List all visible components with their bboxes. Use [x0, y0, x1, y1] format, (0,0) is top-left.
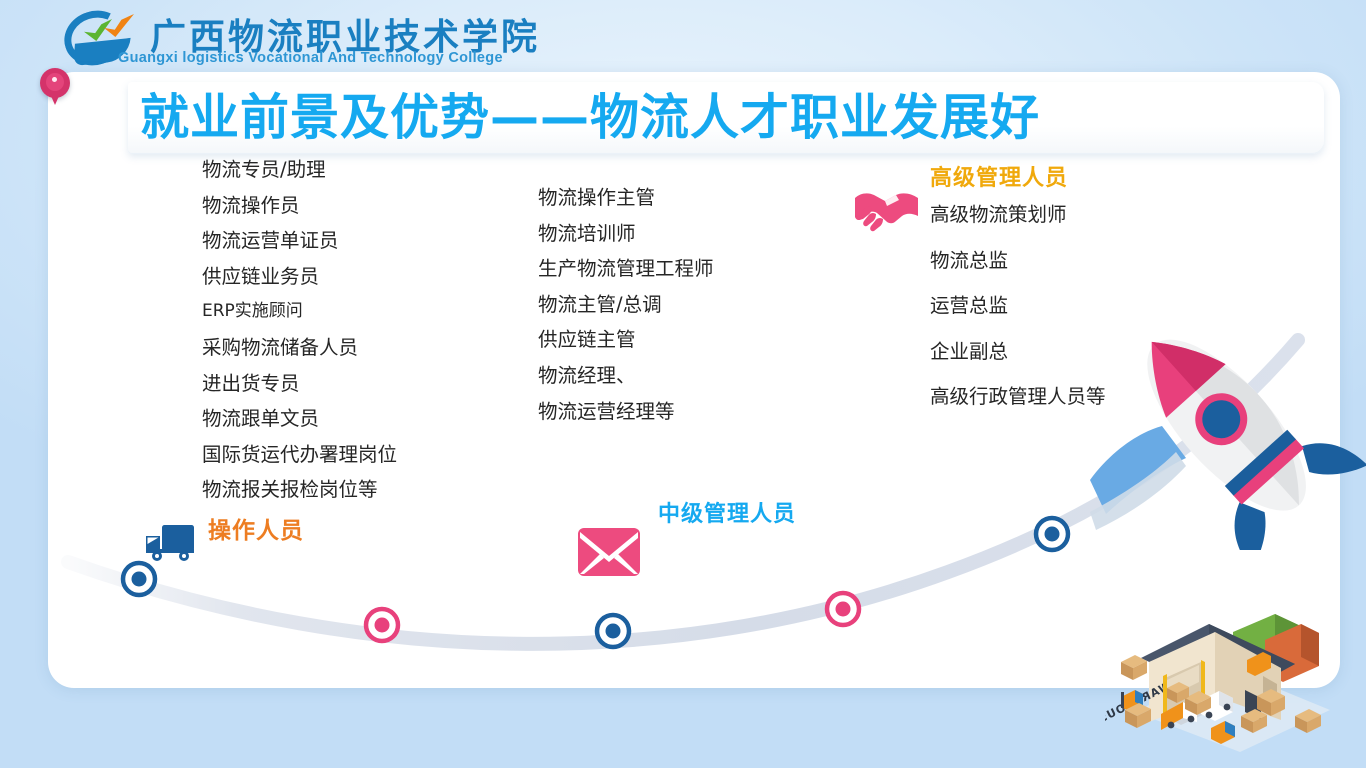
job-item: 物流跟单文员: [202, 401, 397, 437]
job-item: 国际货运代办署理岗位: [202, 437, 397, 473]
job-item: 高级物流策划师: [930, 192, 1106, 238]
job-item: 物流培训师: [538, 216, 714, 252]
job-list-operator: 物流专员/助理 物流操作员 物流运营单证员 供应链业务员 ERP实施顾问 采购物…: [202, 152, 397, 508]
job-item: 物流操作员: [202, 188, 397, 224]
job-item: 物流主管/总调: [538, 287, 714, 323]
job-item: 供应链业务员: [202, 259, 397, 295]
college-name-en: Guangxi logistics Vocational And Technol…: [118, 50, 503, 66]
group-label-operator: 操作人员: [208, 511, 304, 545]
job-item: 物流运营单证员: [202, 223, 397, 259]
truck-icon: [144, 523, 196, 565]
job-list-senior-management: 高级物流策划师 物流总监 运营总监 企业副总 高级行政管理人员等: [930, 192, 1106, 420]
job-item: 物流专员/助理: [202, 152, 397, 188]
group-label-senior-management: 高级管理人员: [930, 160, 1068, 192]
envelope-icon: [578, 528, 640, 576]
job-item: 运营总监: [930, 283, 1106, 329]
job-item: 进出货专员: [202, 366, 397, 402]
job-item: 物流报关报检岗位等: [202, 472, 397, 508]
job-item: ERP实施顾问: [202, 294, 397, 330]
job-item: 物流经理、: [538, 358, 714, 394]
job-item: 高级行政管理人员等: [930, 374, 1106, 420]
rocket-illustration: [1090, 300, 1366, 550]
job-item: 生产物流管理工程师: [538, 251, 714, 287]
handshake-icon: [852, 186, 922, 234]
job-item: 采购物流储备人员: [202, 330, 397, 366]
map-pin-marker-icon: [40, 68, 70, 108]
group-label-middle-management: 中级管理人员: [658, 496, 796, 528]
job-item: 物流总监: [930, 238, 1106, 284]
job-item: 供应链主管: [538, 322, 714, 358]
warehouse-illustration: WAREHOUSE: [1105, 592, 1355, 752]
job-item: 企业副总: [930, 329, 1106, 375]
slide-canvas: 广西物流职业技术学院 Guangxi logistics Vocational …: [0, 0, 1366, 768]
job-item: 物流操作主管: [538, 180, 714, 216]
job-list-middle-management: 物流操作主管 物流培训师 生产物流管理工程师 物流主管/总调 供应链主管 物流经…: [538, 180, 714, 429]
job-item: 物流运营经理等: [538, 394, 714, 430]
page-title: 就业前景及优势——物流人才职业发展好: [140, 86, 1040, 150]
